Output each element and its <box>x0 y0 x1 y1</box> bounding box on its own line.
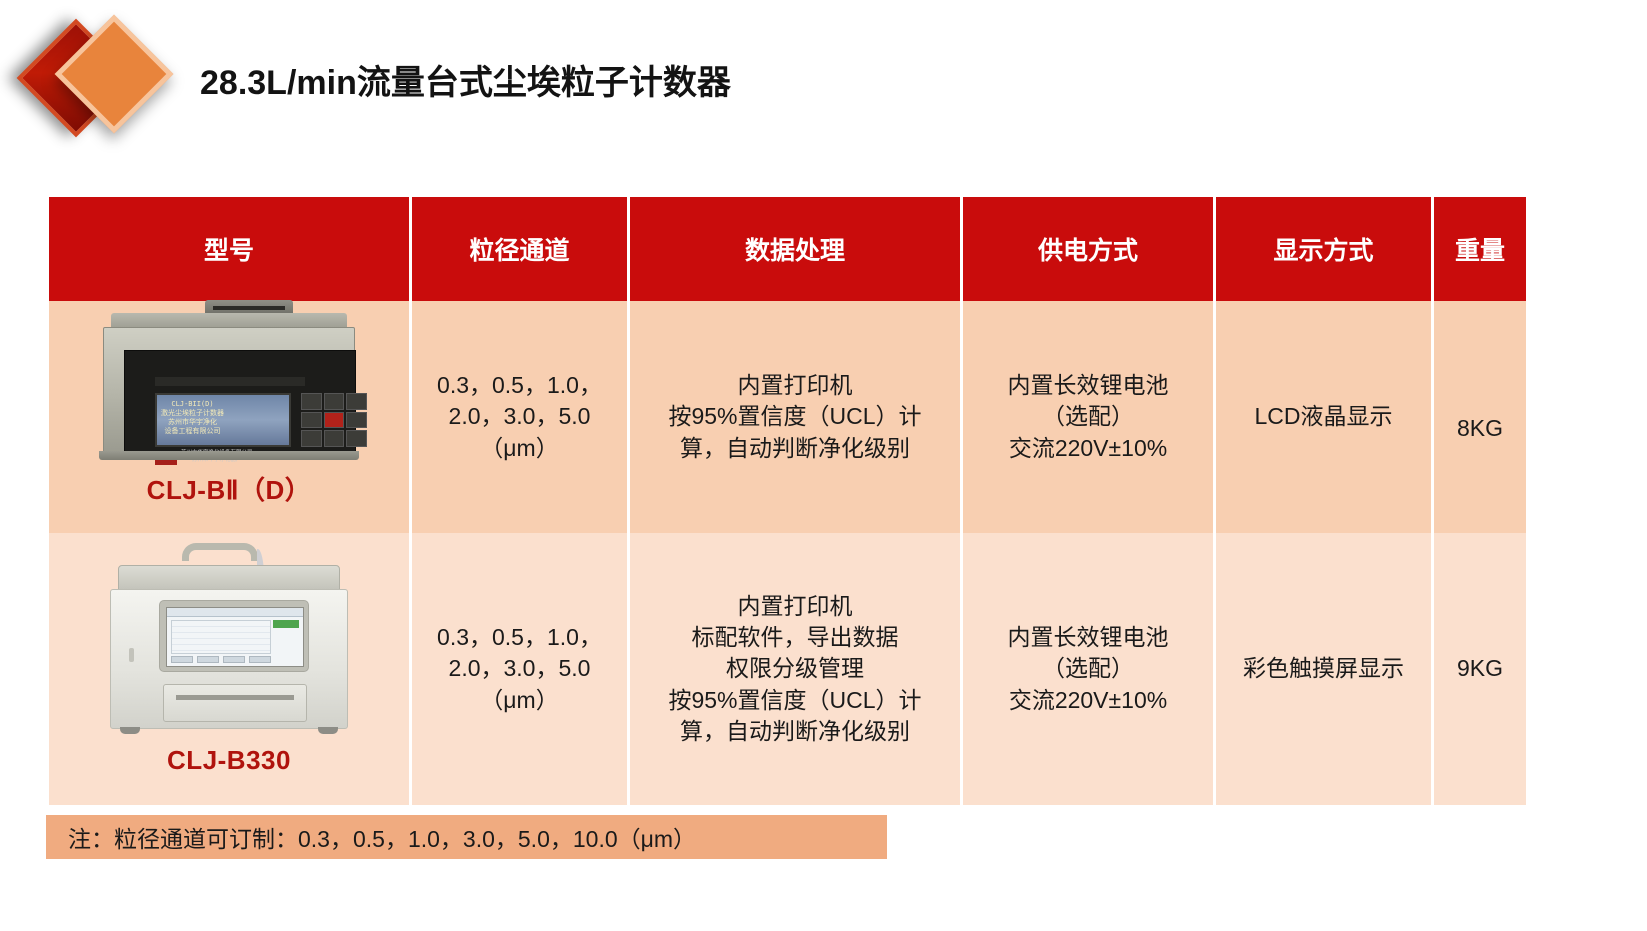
cell-model-clj-bii-d: CLJ-BII(D)激光尘埃粒子计数器苏州市华宇净化设备工程有限公司 <box>49 301 409 533</box>
keypad-key <box>324 393 345 410</box>
screen-bezel <box>159 600 309 672</box>
cell-weight-row1: 8KG <box>1434 301 1526 533</box>
channels-line: （μm） <box>422 433 617 464</box>
device-foot-right <box>318 727 338 734</box>
cell-data-processing-row2: 内置打印机 标配软件，导出数据 权限分级管理 按95%置信度（UCL）计 算，自… <box>630 533 960 805</box>
column-header-power: 供电方式 <box>963 197 1213 301</box>
device-chassis <box>110 589 348 729</box>
power-line: 交流220V±10% <box>973 685 1203 716</box>
channels-line: 0.3，0.5，1.0， <box>422 622 617 653</box>
data-processing-line: 权限分级管理 <box>640 653 950 684</box>
device-handle <box>182 543 258 561</box>
column-header-data-processing: 数据处理 <box>630 197 960 301</box>
table-row: CLJ-B330 0.3，0.5，1.0， 2.0，3.0，5.0 （μm） 内… <box>49 533 1526 805</box>
screen-titlebar <box>167 608 303 617</box>
power-line: 内置长效锂电池 <box>973 370 1203 401</box>
screen-button-row <box>171 656 271 663</box>
data-processing-line: 内置打印机 <box>640 591 950 622</box>
cell-display-row2: 彩色触摸屏显示 <box>1216 533 1431 805</box>
screen-button <box>249 656 271 663</box>
display-value-row2: 彩色触摸屏显示 <box>1216 649 1431 688</box>
display-value-row1: LCD液晶显示 <box>1216 397 1431 436</box>
power-line: （选配） <box>973 401 1203 432</box>
footnote-banner: 注：粒径通道可订制：0.3，0.5，1.0，3.0，5.0，10.0（μm） <box>46 815 887 859</box>
keypad-key <box>346 393 367 410</box>
keypad-key <box>324 430 345 447</box>
weight-value-row2: 9KG <box>1434 649 1526 688</box>
column-header-weight: 重量 <box>1434 197 1526 301</box>
printer-module <box>163 684 307 722</box>
weight-value-row1: 8KG <box>1434 385 1526 448</box>
device-keypad <box>301 393 367 447</box>
screen-button <box>171 656 193 663</box>
side-port <box>129 648 134 662</box>
page-header: 28.3L/min流量台式尘埃粒子计数器 <box>0 0 1647 170</box>
data-processing-line: 算，自动判断净化级别 <box>640 716 950 747</box>
page-title: 28.3L/min流量台式尘埃粒子计数器 <box>200 55 731 104</box>
double-diamond-logo <box>28 18 178 143</box>
channels-line: 2.0，3.0，5.0 <box>422 401 617 432</box>
data-processing-line: 标配软件，导出数据 <box>640 622 950 653</box>
channels-line: 2.0，3.0，5.0 <box>422 653 617 684</box>
cell-display-row1: LCD液晶显示 <box>1216 301 1431 533</box>
keypad-key <box>301 412 322 429</box>
screen-button <box>197 656 219 663</box>
device-touchscreen <box>166 607 304 667</box>
printer-slot <box>213 306 285 310</box>
cell-channels-row1: 0.3，0.5，1.0， 2.0，3.0，5.0 （μm） <box>412 301 627 533</box>
device-lcd-screen: CLJ-BII(D)激光尘埃粒子计数器苏州市华宇净化设备工程有限公司 <box>155 393 291 447</box>
device-front-panel: CLJ-BII(D)激光尘埃粒子计数器苏州市华宇净化设备工程有限公司 <box>124 350 356 458</box>
cell-model-clj-b330: CLJ-B330 <box>49 533 409 805</box>
power-line: 内置长效锂电池 <box>973 622 1203 653</box>
model-label-row1: CLJ-BⅡ（D） <box>147 473 312 508</box>
screen-data-grid <box>171 620 271 654</box>
keypad-key <box>346 412 367 429</box>
channels-line: 0.3，0.5，1.0， <box>422 370 617 401</box>
device-image-bench-lcd-particle-counter: CLJ-BII(D)激光尘埃粒子计数器苏州市华宇净化设备工程有限公司 <box>93 313 365 473</box>
cell-channels-row2: 0.3，0.5，1.0， 2.0，3.0，5.0 （μm） <box>412 533 627 805</box>
column-header-channels: 粒径通道 <box>412 197 627 301</box>
power-line: 交流220V±10% <box>973 433 1203 464</box>
keypad-key <box>301 430 322 447</box>
table-header-row: 型号 粒径通道 数据处理 供电方式 显示方式 重量 <box>49 197 1526 301</box>
keypad-key <box>301 393 322 410</box>
device-base <box>99 451 359 460</box>
cell-data-processing-row1: 内置打印机 按95%置信度（UCL）计 算，自动判断净化级别 <box>630 301 960 533</box>
data-processing-line: 按95%置信度（UCL）计 <box>640 401 950 432</box>
device-foot-left <box>120 727 140 734</box>
cell-power-row2: 内置长效锂电池 （选配） 交流220V±10% <box>963 533 1213 805</box>
specification-table: 型号 粒径通道 数据处理 供电方式 显示方式 重量 <box>46 197 1529 805</box>
device-top-panel <box>118 565 340 591</box>
device-image-bench-touchscreen-particle-counter <box>100 543 358 743</box>
printer-slot <box>176 695 294 700</box>
cell-weight-row2: 9KG <box>1434 533 1526 805</box>
keypad-key <box>346 430 367 447</box>
device-chassis: CLJ-BII(D)激光尘埃粒子计数器苏州市华宇净化设备工程有限公司 <box>103 327 355 453</box>
column-header-display: 显示方式 <box>1216 197 1431 301</box>
screen-status-indicator <box>273 620 299 628</box>
screen-button <box>223 656 245 663</box>
device-brand-bar <box>155 377 305 386</box>
data-processing-line: 按95%置信度（UCL）计 <box>640 685 950 716</box>
table-row: CLJ-BII(D)激光尘埃粒子计数器苏州市华宇净化设备工程有限公司 <box>49 301 1526 533</box>
power-line: （选配） <box>973 653 1203 684</box>
column-header-model: 型号 <box>49 197 409 301</box>
cell-power-row1: 内置长效锂电池 （选配） 交流220V±10% <box>963 301 1213 533</box>
data-processing-line: 算，自动判断净化级别 <box>640 433 950 464</box>
footnote-text: 注：粒径通道可订制：0.3，0.5，1.0，3.0，5.0，10.0（μm） <box>46 820 696 854</box>
channels-line: （μm） <box>422 685 617 716</box>
lcd-screen-text: CLJ-BII(D)激光尘埃粒子计数器苏州市华宇净化设备工程有限公司 <box>161 400 224 436</box>
device-feet <box>114 727 344 735</box>
keypad-key-power <box>324 412 345 429</box>
data-processing-line: 内置打印机 <box>640 370 950 401</box>
model-label-row2: CLJ-B330 <box>167 743 291 778</box>
